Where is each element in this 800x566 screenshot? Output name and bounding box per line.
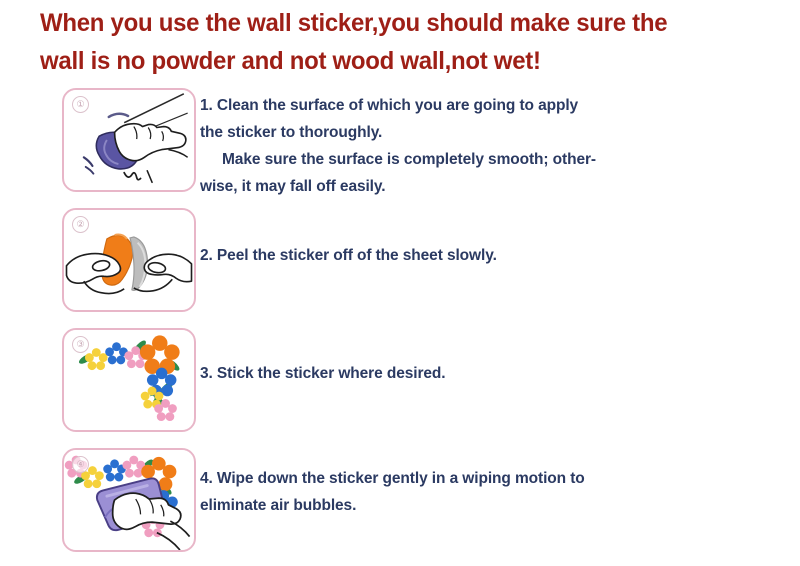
step-1-number-badge: ① [72,96,89,113]
step-row-3: ③ [0,326,800,446]
step-1-illustration-panel: ① [62,88,196,192]
step-row-1: ① [0,86,800,206]
step-3-illustration-panel: ③ [62,328,196,432]
page-title: When you use the wall sticker,you should… [40,4,760,80]
instruction-steps-list: ① [0,86,800,566]
step-3-text: 3. Stick the sticker where desired. [200,360,640,387]
step-1-line-2: the sticker to thoroughly. [200,119,640,146]
step-1-line-4: wise, it may fall off easily. [200,173,640,200]
step-row-2: ② 2. Peel the sticker off [0,206,800,326]
page-title-line-2: wall is no powder and not wood wall,not … [40,42,731,80]
step-2-illustration-panel: ② [62,208,196,312]
step-4-line-1: 4. Wipe down the sticker gently in a wip… [200,465,640,492]
step-1-line-3: Make sure the surface is completely smoo… [200,146,640,173]
step-3-line-1: 3. Stick the sticker where desired. [200,360,640,387]
step-4-line-2: eliminate air bubbles. [200,492,640,519]
step-1-text: 1. Clean the surface of which you are go… [200,92,640,200]
step-1-line-1: 1. Clean the surface of which you are go… [200,92,640,119]
step-4-text: 4. Wipe down the sticker gently in a wip… [200,465,640,519]
step-2-number-badge: ② [72,216,89,233]
step-4-illustration-panel: ④ [62,448,196,552]
page-title-line-1: When you use the wall sticker,you should… [40,4,731,42]
step-2-text: 2. Peel the sticker off of the sheet slo… [200,242,640,269]
step-row-4: ④ [0,446,800,566]
step-2-line-1: 2. Peel the sticker off of the sheet slo… [200,242,640,269]
step-4-number-badge: ④ [72,456,89,473]
step-3-number-badge: ③ [72,336,89,353]
